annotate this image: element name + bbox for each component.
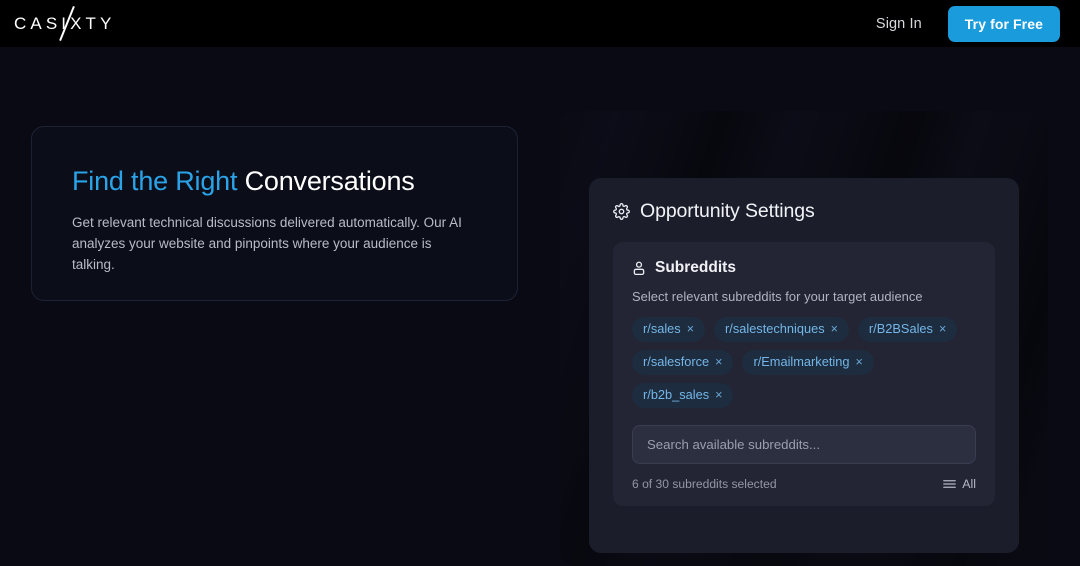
info-card-subtext: Get relevant technical discussions deliv… (72, 213, 477, 276)
show-all-button[interactable]: All (943, 477, 976, 491)
show-all-label: All (962, 477, 976, 491)
panel-title: Opportunity Settings (640, 200, 815, 223)
panel-header: Opportunity Settings (613, 200, 995, 223)
subreddit-chip[interactable]: r/b2b_sales × (632, 383, 733, 408)
header-actions: Sign In Try for Free (876, 0, 1060, 47)
chip-label: r/Emailmarketing (753, 355, 849, 369)
opportunity-settings-panel: Opportunity Settings Subreddits Select r… (589, 178, 1019, 553)
chip-remove-icon[interactable]: × (831, 323, 838, 336)
selected-subreddit-chips: r/sales × r/salestechniques × r/B2BSales… (632, 317, 976, 408)
chip-remove-icon[interactable]: × (715, 356, 722, 369)
gear-icon (613, 203, 630, 220)
page-title: Find the Right Conversations (72, 165, 477, 199)
chip-remove-icon[interactable]: × (855, 356, 862, 369)
subreddits-footer: 6 of 30 subreddits selected All (632, 477, 976, 491)
hamburger-icon (943, 479, 956, 489)
selected-count-text: 6 of 30 subreddits selected (632, 477, 777, 491)
chip-label: r/b2b_sales (643, 388, 709, 402)
subreddit-chip[interactable]: r/salestechniques × (714, 317, 849, 342)
try-for-free-button[interactable]: Try for Free (948, 6, 1060, 42)
info-card: Find the Right Conversations Get relevan… (31, 126, 518, 301)
subreddit-chip[interactable]: r/sales × (632, 317, 705, 342)
chip-remove-icon[interactable]: × (939, 323, 946, 336)
preview-card: Opportunity Settings Subreddits Select r… (560, 111, 1048, 566)
subreddits-header: Subreddits (632, 259, 976, 277)
subreddit-search-input[interactable] (632, 425, 976, 464)
sign-in-link[interactable]: Sign In (876, 16, 922, 32)
chip-label: r/salesforce (643, 355, 709, 369)
chip-label: r/B2BSales (869, 322, 933, 336)
subreddits-heading: Subreddits (655, 259, 736, 277)
chip-remove-icon[interactable]: × (687, 323, 694, 336)
headline-highlight: Find the Right (72, 166, 237, 196)
subreddits-description: Select relevant subreddits for your targ… (632, 289, 976, 304)
subreddit-chip[interactable]: r/Emailmarketing × (742, 350, 873, 375)
subreddit-chip[interactable]: r/salesforce × (632, 350, 733, 375)
chip-remove-icon[interactable]: × (715, 389, 722, 402)
chip-label: r/salestechniques (725, 322, 825, 336)
subreddit-chip[interactable]: r/B2BSales × (858, 317, 957, 342)
headline-rest: Conversations (237, 166, 414, 196)
user-icon (632, 261, 646, 276)
subreddits-section: Subreddits Select relevant subreddits fo… (613, 242, 995, 506)
brand-logo[interactable]: CASIXTY (14, 0, 115, 47)
chip-label: r/sales (643, 322, 681, 336)
top-header: CASIXTY Sign In Try for Free (0, 0, 1080, 47)
